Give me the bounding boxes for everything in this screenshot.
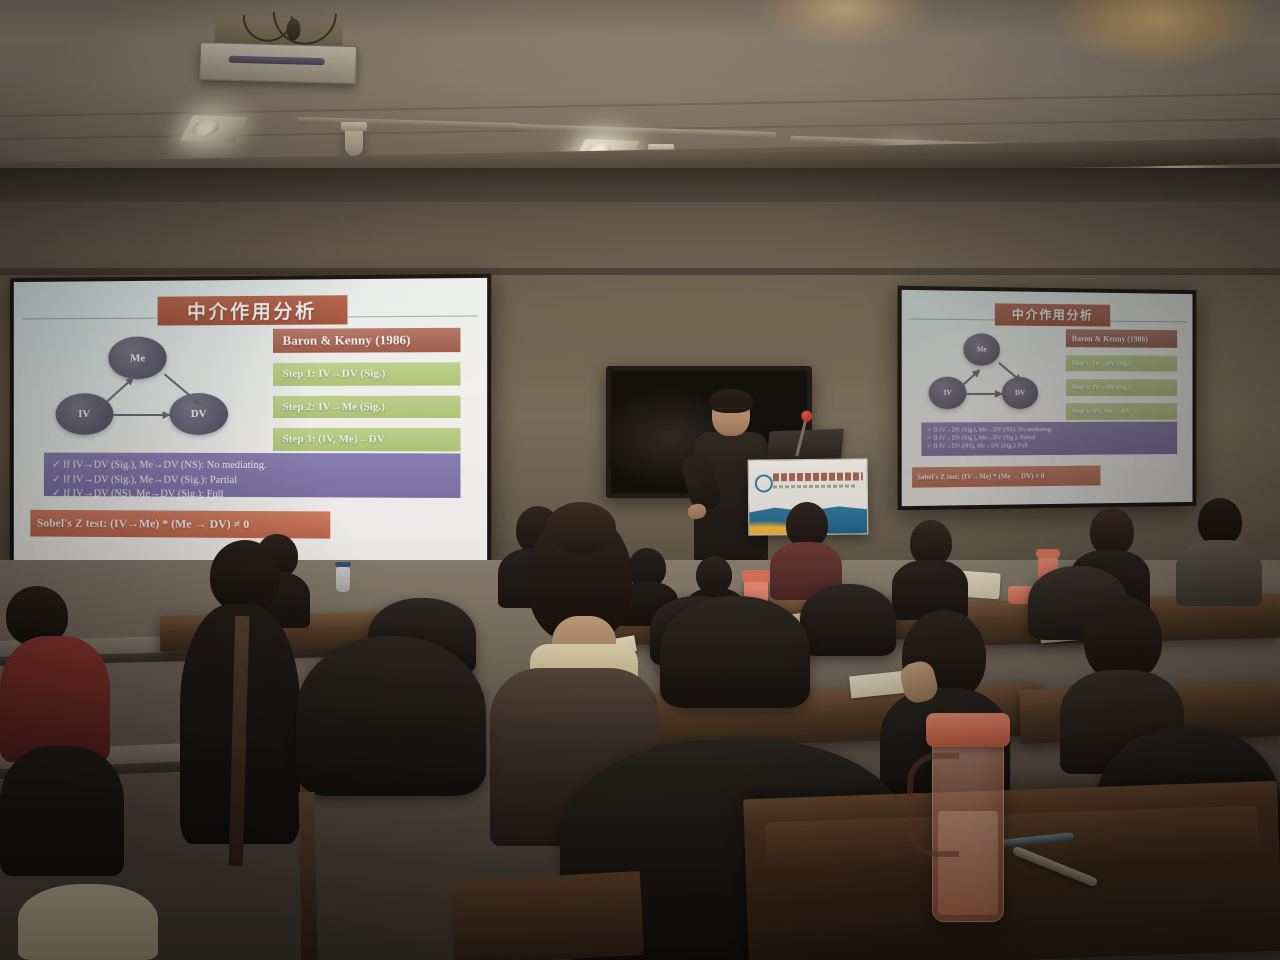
step-2-label: Step 2: IV→Me (Sig.) xyxy=(273,395,460,418)
condition-text: If IV→DV (NS), Me→DV (Sig.): Full xyxy=(933,444,1027,451)
podium-banner-headline xyxy=(773,472,863,481)
audience-member xyxy=(770,502,842,594)
wall-rail xyxy=(0,268,1280,275)
main-projection-screen: 中介作用分析 Me IV DV Baron & Kenny (1986) Ste… xyxy=(10,274,491,568)
diagram-edge-iv-dv xyxy=(113,414,169,416)
lecture-hall-photo: 中介作用分析 Me IV DV Baron & Kenny (1986) Ste… xyxy=(0,0,1280,960)
condition-item: ✓If IV→DV (NS), Me→DV (Sig.): Full xyxy=(52,487,452,503)
diagram-node-iv: IV xyxy=(929,376,966,408)
check-icon: ✓ xyxy=(52,474,61,485)
podium-banner-subline xyxy=(773,484,857,488)
projector-lens xyxy=(229,56,325,66)
check-icon: ✓ xyxy=(927,444,932,450)
glasses-icon xyxy=(715,408,747,416)
conditions-box: ✓If IV→DV (Sig.), Me→DV (NS): No mediati… xyxy=(44,453,461,498)
podium-logo-icon xyxy=(755,474,773,492)
desk-foreground xyxy=(743,781,1280,960)
audience-member xyxy=(1176,498,1262,602)
framework-label: Baron & Kenny (1986) xyxy=(1066,329,1177,348)
audience-member xyxy=(0,586,120,866)
check-icon: ✓ xyxy=(52,460,61,471)
diagram-node-me: Me xyxy=(963,334,1000,366)
step-1-label: Step 1: IV→DV (Sig.) xyxy=(273,362,460,385)
step-3-label: Step 3: (IV, Me)→DV xyxy=(273,428,460,451)
condition-text: If IV→DV (Sig.), Me→DV (Sig.): Partial xyxy=(933,435,1035,442)
slide-content-secondary: 中介作用分析 Me IV DV Baron & Kenny (1986) Ste… xyxy=(902,290,1193,506)
diagram-edge-iv-me xyxy=(96,377,134,412)
bottle-strap xyxy=(907,753,959,857)
condition-item: ✓If IV→DV (NS), Me→DV (Sig.): Full xyxy=(927,442,1172,452)
ceiling-projector xyxy=(199,16,356,82)
chair-leg xyxy=(299,792,318,960)
wall-upper-band xyxy=(0,168,1280,202)
step-1-label: Step 1: IV→DV (Sig.) xyxy=(1066,355,1177,372)
check-icon: ✓ xyxy=(927,436,932,442)
desk-edge xyxy=(450,871,644,960)
slide-title: 中介作用分析 xyxy=(994,303,1110,327)
slide-title: 中介作用分析 xyxy=(158,295,347,326)
tissue-box xyxy=(18,884,158,960)
ceiling-spotlight-icon xyxy=(345,130,363,156)
bottle-cap xyxy=(926,713,1010,747)
secondary-projection-screen: 中介作用分析 Me IV DV Baron & Kenny (1986) Ste… xyxy=(898,286,1197,511)
check-icon: ✓ xyxy=(52,488,61,499)
check-icon: ✓ xyxy=(927,427,932,433)
condition-text: If IV→DV (NS), Me→DV (Sig.): Full xyxy=(63,488,223,500)
chair xyxy=(296,636,486,796)
chair xyxy=(660,596,810,708)
conditions-box: ✓If IV→DV (Sig.), Me→DV (NS): No mediati… xyxy=(921,422,1177,456)
step-2-label: Step 2: IV→Me (Sig.) xyxy=(1066,379,1177,396)
step-3-label: Step 3: (IV, Me)→DV xyxy=(1066,403,1177,420)
framework-label: Baron & Kenny (1986) xyxy=(273,328,460,353)
projector-body xyxy=(199,42,357,84)
condition-item: ✓If IV→DV (Sig.), Me→DV (NS): No mediati… xyxy=(52,459,452,475)
diagram-edge-iv-dv xyxy=(966,393,1002,395)
hair-bun xyxy=(546,502,616,554)
diagram-node-iv: IV xyxy=(55,393,113,435)
condition-text: If IV→DV (Sig.), Me→DV (Sig.): Partial xyxy=(63,474,237,486)
water-bottle-foreground xyxy=(932,734,1004,922)
water-bottle xyxy=(336,566,350,592)
sobel-test-label: Sobel's Z test: (IV→Me) * (Me → DV) ≠ 0 xyxy=(912,465,1100,487)
condition-text: If IV→DV (Sig.), Me→DV (NS): No mediatin… xyxy=(933,427,1052,434)
diagram-node-me: Me xyxy=(109,337,167,379)
slide-content: 中介作用分析 Me IV DV Baron & Kenny (1986) Ste… xyxy=(14,278,487,564)
audience-member xyxy=(892,520,968,616)
condition-text: If IV→DV (Sig.), Me→DV (NS): No mediatin… xyxy=(63,460,266,472)
